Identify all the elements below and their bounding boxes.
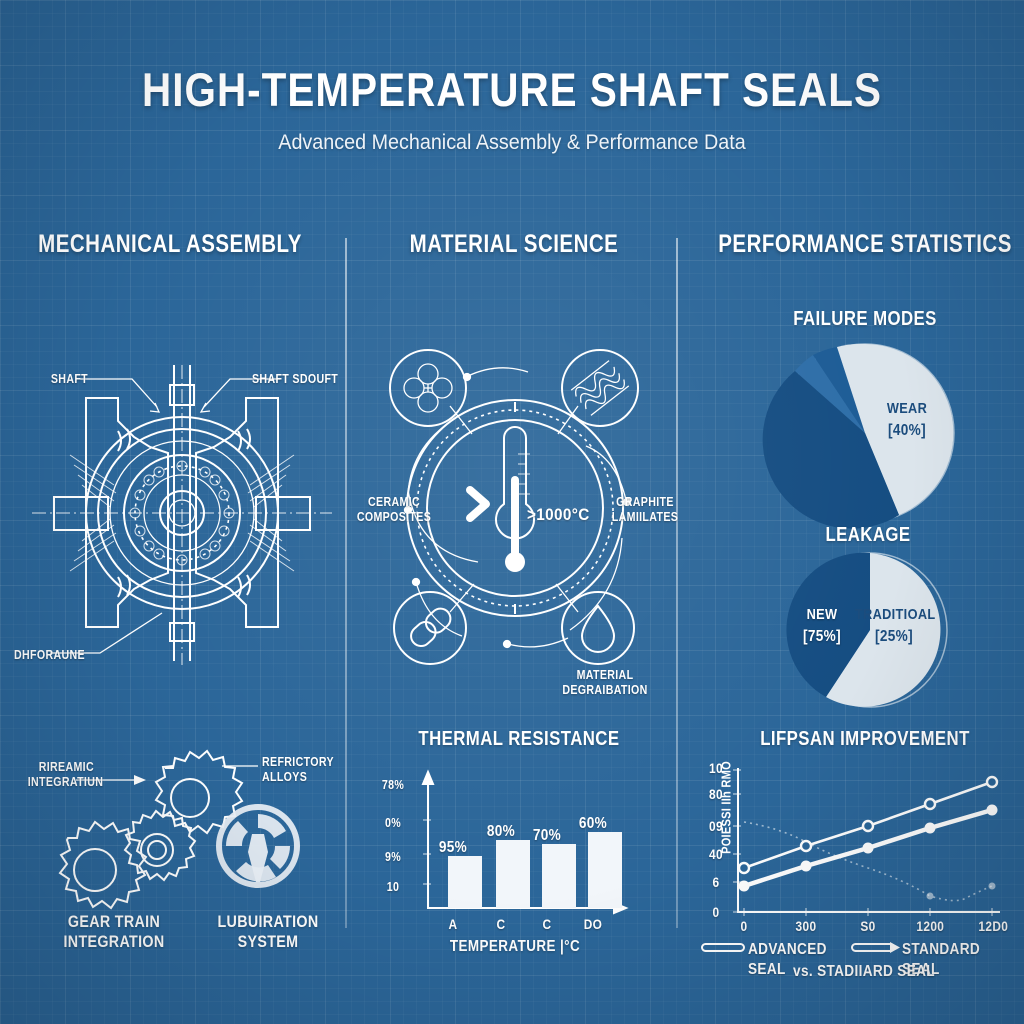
seal-assembly-diagram bbox=[22, 365, 342, 665]
degradation-line1: MATERIAL bbox=[555, 668, 655, 683]
line-xtick-3: 1200 bbox=[916, 918, 943, 935]
chart-title-leakage: LEAKAGE bbox=[792, 524, 943, 547]
lubrication-caption-line2: SYSTEM bbox=[192, 932, 343, 952]
bar-ytick-3: 10 bbox=[380, 880, 406, 895]
lifespan-line-chart bbox=[700, 764, 1020, 944]
column-divider-1 bbox=[345, 238, 347, 928]
gear-medium-icon bbox=[125, 811, 195, 880]
lubrication-caption-line1: LUBUIRATION bbox=[192, 912, 343, 932]
lubrication-caption: LUBUIRATION SYSTEM bbox=[192, 912, 343, 953]
thermal-resistance-bar-chart bbox=[390, 768, 650, 938]
graphite-line1: GRAPHITE bbox=[603, 495, 686, 510]
chart-title-lifespan: LIFPSAN IMPROVEMENT bbox=[760, 728, 970, 751]
chart-title-thermal-resistance: THERMAL RESISTANCE bbox=[418, 728, 611, 751]
label-ceramic-composites: CERAMIC COMPOSITES bbox=[355, 495, 433, 526]
graphite-line2: LAMIILATES bbox=[603, 510, 686, 525]
callout-shaft-right: SHAFT SDOUFT bbox=[252, 372, 346, 387]
ceramic-line1: CERAMIC bbox=[355, 495, 433, 510]
bar-category-2: C bbox=[528, 916, 565, 933]
pie-slice-label-wear: WEAR bbox=[876, 400, 939, 418]
callout-shaft: SHAFT bbox=[29, 372, 89, 387]
thermometer-icon bbox=[496, 427, 534, 572]
line-ytick-5: 0 bbox=[702, 904, 729, 921]
pie-slice-value-new: [75%] bbox=[797, 627, 848, 647]
line-chart-ylabel: POIESSI IIh RMO bbox=[719, 757, 734, 859]
header: HIGH-TEMPERATURE SHAFT SEALS Advanced Me… bbox=[0, 62, 1024, 155]
bar-value-0: 95% bbox=[434, 838, 471, 858]
bar-value-2: 70% bbox=[528, 826, 565, 846]
page-title: HIGH-TEMPERATURE SHAFT SEALS bbox=[72, 62, 953, 117]
bar-ytick-1: 0% bbox=[380, 816, 406, 831]
label-graphite-laminates: GRAPHITE LAMIILATES bbox=[603, 495, 686, 526]
ceramic-line2: COMPOSITES bbox=[355, 510, 433, 525]
gear-input-label-line2: INTEGRATIUN bbox=[28, 775, 94, 790]
bar-value-3: 60% bbox=[574, 814, 611, 834]
molecule-node bbox=[390, 350, 466, 426]
column-heading-material: MATERIAL SCIENCE bbox=[375, 230, 654, 259]
gear-input-label-line1: RIREAMIC bbox=[28, 760, 94, 775]
line-ytick-4: 6 bbox=[702, 874, 729, 891]
column-heading-performance: PERFORMANCE STATISTICS bbox=[718, 230, 994, 259]
lubrication-system-icon bbox=[219, 807, 297, 885]
gear-train-caption: GEAR TRAIN INTEGRATION bbox=[38, 912, 189, 953]
line-xtick-4: 12D0 bbox=[978, 918, 1005, 935]
column-mechanical-assembly: MECHANICAL ASSEMBLY bbox=[0, 230, 340, 259]
pie-slice-value-traditional: [25%] bbox=[855, 627, 933, 647]
center-temperature-value: >1000°C bbox=[527, 505, 608, 526]
column-material-science: MATERIAL SCIENCE bbox=[344, 230, 684, 259]
bar-ytick-2: 9% bbox=[380, 850, 406, 865]
bar-value-1: 80% bbox=[482, 822, 519, 842]
chain-link-node bbox=[394, 592, 466, 664]
callout-bottom-left: DHFORAUNE bbox=[14, 648, 108, 663]
gear-train-caption-line1: GEAR TRAIN bbox=[38, 912, 189, 932]
bar-chart-xlabel: TEMPERATURE |°C bbox=[418, 938, 611, 956]
bar-category-1: C bbox=[482, 916, 519, 933]
line-xtick-0: 0 bbox=[730, 918, 757, 935]
performance-footer-caption: vs. STADIIARD SEAL bbox=[762, 962, 966, 982]
bar-category-3: DO bbox=[574, 916, 611, 933]
bar-ytick-0: 78% bbox=[380, 778, 406, 793]
label-material-degradation: MATERIAL DEGRAIBATION bbox=[555, 668, 655, 699]
chart-title-failure-modes: FAILURE MODES bbox=[785, 308, 945, 331]
pie-slice-label-new: NEW bbox=[797, 606, 848, 624]
column-performance-statistics: PERFORMANCE STATISTICS bbox=[688, 230, 1024, 259]
pie-slice-value-wear: [40%] bbox=[876, 421, 939, 441]
alloy-label-line2: ALLOYS bbox=[262, 770, 356, 785]
line-xtick-2: S0 bbox=[854, 918, 881, 935]
pie-slice-label-traditional: TRADITIOAL bbox=[855, 606, 933, 624]
refractory-alloys-label: REFRICTORY ALLOYS bbox=[262, 755, 356, 786]
alloy-label-line1: REFRICTORY bbox=[262, 755, 356, 770]
bar-category-0: A bbox=[434, 916, 471, 933]
column-heading-mechanical: MECHANICAL ASSEMBLY bbox=[31, 230, 310, 259]
degradation-line2: DEGRAIBATION bbox=[555, 683, 655, 698]
line-xtick-1: 300 bbox=[792, 918, 819, 935]
gear-input-label: RIREAMIC INTEGRATIUN bbox=[28, 760, 94, 791]
gear-train-caption-line2: INTEGRATION bbox=[38, 932, 189, 952]
fiber-weave-node bbox=[562, 350, 638, 426]
page-subtitle: Advanced Mechanical Assembly & Performan… bbox=[31, 131, 994, 155]
